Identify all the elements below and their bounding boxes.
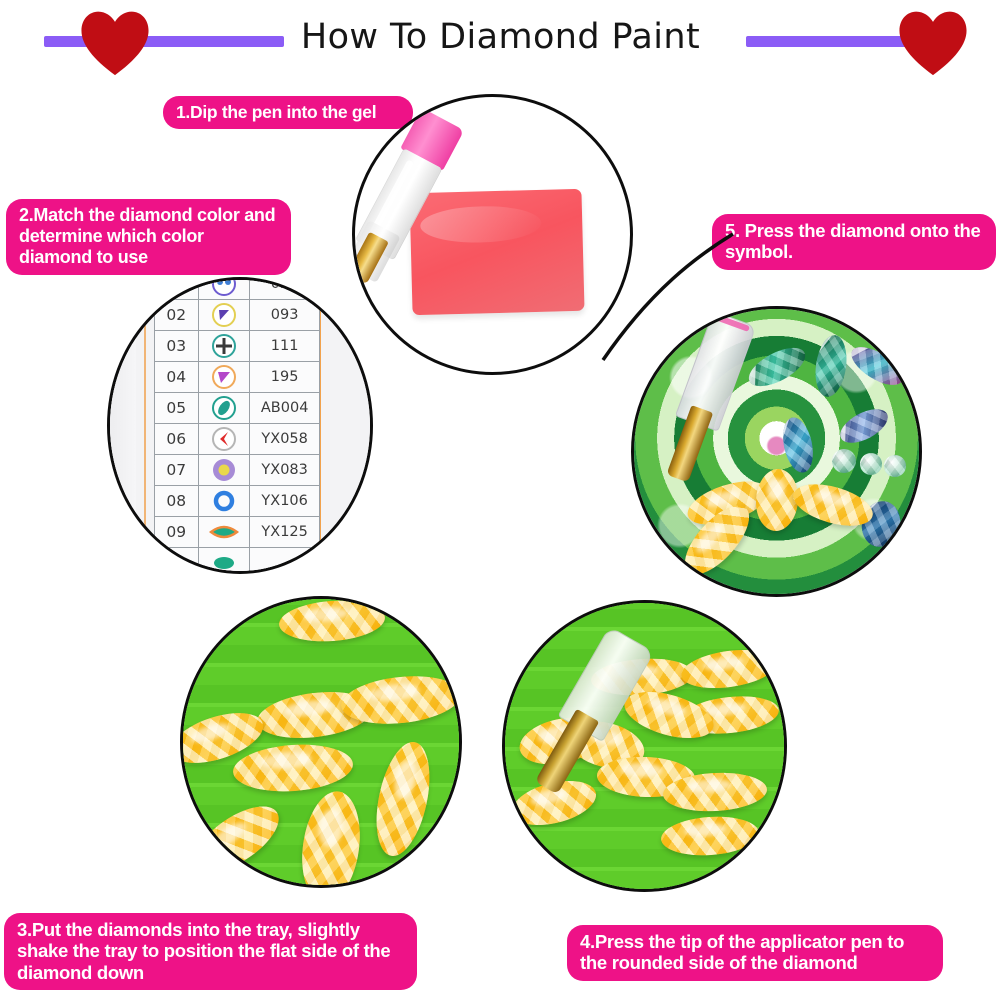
- row-code: 195: [250, 362, 320, 393]
- table-row: 04 195: [155, 362, 320, 393]
- table-row: 02 093: [155, 300, 320, 331]
- infographic-canvas: How To Diamond Paint 1.Dip the pen into …: [0, 0, 1001, 1001]
- row-code: 093: [250, 300, 320, 331]
- table-row: 06 YX058: [155, 424, 320, 455]
- ring-symbol-icon: [198, 486, 250, 517]
- leaf-symbol-icon: [198, 393, 250, 424]
- step-5-photo: [631, 306, 922, 597]
- eye-leaf-symbol-icon: [198, 517, 250, 548]
- row-number: 08: [155, 486, 199, 517]
- row-code: AB004: [250, 393, 320, 424]
- step-3-photo: [180, 596, 462, 888]
- leaf-symbol-icon: [198, 548, 250, 575]
- row-number: 07: [155, 455, 199, 486]
- step-2-label: 2.Match the diamond color and determine …: [6, 199, 291, 275]
- table-row: 01 020: [155, 277, 320, 300]
- table-row: 08 YX106: [155, 486, 320, 517]
- table-row: 10: [155, 548, 320, 575]
- row-code: YX058: [250, 424, 320, 455]
- table-row: 05 AB004: [155, 393, 320, 424]
- page-title: How To Diamond Paint: [0, 17, 1001, 57]
- row-number: 05: [155, 393, 199, 424]
- row-code: YX125: [250, 517, 320, 548]
- legend-sheet: 01 020 02 093: [110, 280, 370, 571]
- row-number: 04: [155, 362, 199, 393]
- arrow-left-symbol-icon: [198, 424, 250, 455]
- row-code: 020: [250, 277, 320, 300]
- step-3-label: 3.Put the diamonds into the tray, slight…: [4, 913, 417, 990]
- row-code: YX106: [250, 486, 320, 517]
- color-chart-table: 01 020 02 093: [154, 277, 320, 574]
- row-code: [250, 548, 320, 575]
- rhinestone-round: [832, 449, 856, 473]
- step-4-photo: [502, 600, 787, 892]
- rhinestone-round: [884, 455, 906, 477]
- row-number: 03: [155, 331, 199, 362]
- dot-in-ring-symbol-icon: [198, 455, 250, 486]
- row-code: YX083: [250, 455, 320, 486]
- double-dot-symbol-icon: [198, 277, 250, 300]
- filled-triangle-symbol-icon: [198, 362, 250, 393]
- step-1-photo: [352, 94, 633, 375]
- row-number: 01: [155, 277, 199, 300]
- row-number: 09: [155, 517, 199, 548]
- rhinestone-round: [860, 453, 882, 475]
- row-number: 02: [155, 300, 199, 331]
- table-row: 09 YX125: [155, 517, 320, 548]
- table-row: 03 111: [155, 331, 320, 362]
- gel-pad: [409, 189, 584, 315]
- table-row: 07 YX083: [155, 455, 320, 486]
- plus-symbol-icon: [198, 331, 250, 362]
- step-4-label: 4.Press the tip of the applicator pen to…: [567, 925, 943, 981]
- row-number: 06: [155, 424, 199, 455]
- sheet-margin-line: [144, 280, 146, 571]
- step-2-photo: 01 020 02 093: [107, 277, 373, 574]
- row-number: 10: [155, 548, 199, 575]
- triangle-symbol-icon: [198, 300, 250, 331]
- row-code: 111: [250, 331, 320, 362]
- step-5-label: 5. Press the diamond onto the symbol.: [712, 214, 996, 270]
